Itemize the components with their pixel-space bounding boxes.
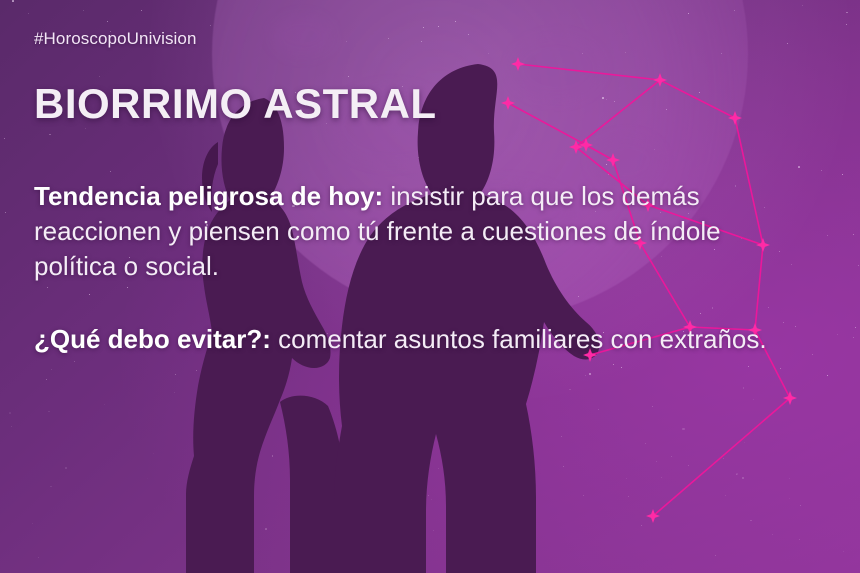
paragraph-tendencia: Tendencia peligrosa de hoy: insistir par… bbox=[34, 179, 804, 284]
horoscope-body: Tendencia peligrosa de hoy: insistir par… bbox=[34, 179, 804, 357]
paragraph-lead: Tendencia peligrosa de hoy: bbox=[34, 181, 383, 211]
card-content: #HoroscopoUnivision BIORRIMO ASTRAL Tend… bbox=[0, 0, 860, 573]
paragraph-text: comentar asuntos familiares con extraños… bbox=[271, 324, 767, 354]
hashtag-label: #HoroscopoUnivision bbox=[34, 29, 826, 49]
paragraph-evitar: ¿Qué debo evitar?: comentar asuntos fami… bbox=[34, 322, 804, 357]
horoscope-card: #HoroscopoUnivision BIORRIMO ASTRAL Tend… bbox=[0, 0, 860, 573]
page-title: BIORRIMO ASTRAL bbox=[34, 83, 826, 125]
paragraph-lead: ¿Qué debo evitar?: bbox=[34, 324, 271, 354]
